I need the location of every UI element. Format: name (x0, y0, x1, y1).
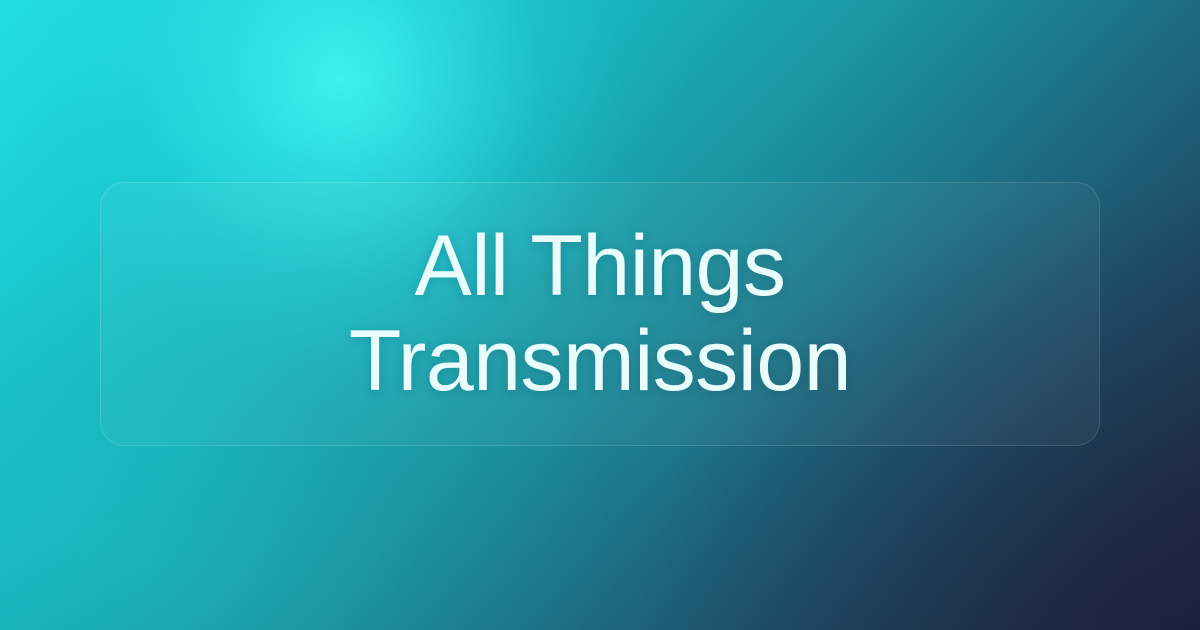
title-glass-panel: All Things Transmission (100, 182, 1100, 446)
page-title: All Things Transmission (101, 219, 1099, 409)
open-graph-card: All Things Transmission (0, 0, 1200, 630)
